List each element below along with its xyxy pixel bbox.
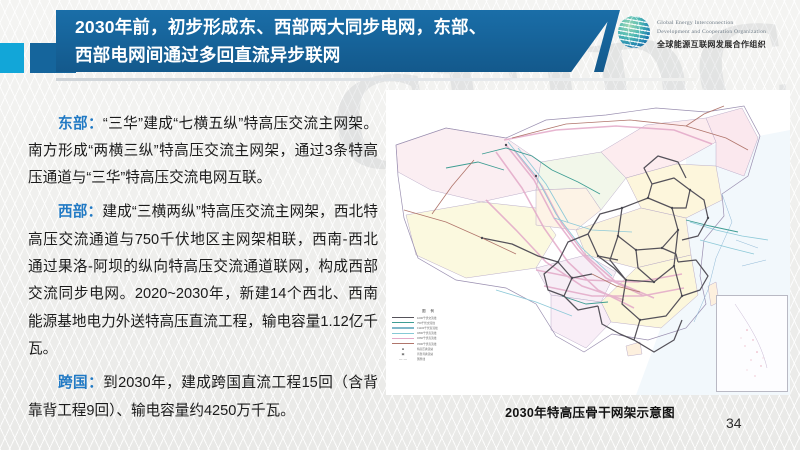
legend-swatch [392, 343, 414, 344]
header-divider [56, 78, 696, 81]
map-legend: 图 例 1000千伏交流线 750千伏交流线 ±1100千伏直流线 ±800千伏… [392, 308, 466, 374]
slide-canvas: GEIDCO 2030年前，初步形成东、西部两大同步电网，东部、 西部电网间通过… [0, 0, 800, 450]
legend-label: 1000千伏交流线 [417, 316, 436, 320]
page-number: 34 [726, 415, 742, 431]
legend-line-items: 1000千伏交流线 750千伏交流线 ±1100千伏直流线 ±800千伏直流线 … [392, 315, 466, 362]
logo-english-line-1: Global Energy Interconnection [657, 20, 733, 26]
accent-block-cyan [0, 43, 24, 73]
logo-english-line-2: Development and Cooperation Organization [657, 29, 766, 35]
legend-swatch [392, 322, 414, 323]
paragraph-tag-transnational: 跨国： [58, 375, 103, 391]
inset-map-svg [717, 296, 787, 391]
paragraph-tag-west: 西部： [58, 204, 102, 220]
logo-chinese-name: 全球能源互联网发展合作组织 [657, 39, 766, 50]
south-china-sea-inset [716, 295, 788, 392]
legend-label: ±500千伏直流线 [417, 342, 436, 346]
legend-symbol: ▣ [392, 352, 414, 356]
legend-symbol: ⊠ [392, 347, 414, 351]
legend-swatch [392, 333, 414, 334]
page-title-line-1: 2030年前，初步形成东、西部两大同步电网，东部、 [75, 13, 575, 41]
legend-label: 背靠背换流站 [417, 352, 433, 356]
paragraph-west: 西部：建成“三横两纵”特高压交流主网架，西北特高压交流通道与750千伏地区主网架… [28, 199, 378, 363]
globe-icon [618, 16, 650, 48]
grid-map-image: .prov{stroke:#b4a6c4;stroke-width:0.45;f… [386, 90, 790, 395]
legend-label: ±660千伏直流线 [417, 336, 436, 340]
page-title-line-2: 西部电网间通过多回直流异步联网 [75, 41, 575, 69]
legend-label: 国界线 [417, 357, 425, 361]
legend-label: 特高压换流站 [417, 347, 433, 351]
legend-symbol: —··— [392, 357, 414, 361]
legend-title: 图 例 [392, 308, 466, 313]
legend-swatch [392, 338, 414, 339]
slide-header: 2030年前，初步形成东、西部两大同步电网，东部、 西部电网间通过多回直流异步联… [0, 0, 800, 88]
paragraph-text-west: 建成“三横两纵”特高压交流主网架，西北特高压交流通道与750千伏地区主网架相联，… [28, 204, 378, 356]
organization-logo: Global Energy Interconnection Developmen… [618, 12, 793, 56]
legend-label: ±1100千伏直流线 [417, 326, 438, 330]
map-caption: 2030年特高压骨干网架示意图 [440, 402, 740, 421]
legend-item: —··— 国界线 [392, 357, 466, 362]
legend-label: 750千伏交流线 [417, 321, 435, 325]
page-title: 2030年前，初步形成东、西部两大同步电网，东部、 西部电网间通过多回直流异步联… [75, 13, 575, 69]
paragraph-east: 东部：“三华”建成“七横五纵”特高压交流主网架。南方形成“两横三纵”特高压交流主… [28, 111, 378, 193]
body-text-column: 东部：“三华”建成“七横五纵”特高压交流主网架。南方形成“两横三纵”特高压交流主… [28, 96, 378, 427]
legend-swatch [392, 327, 414, 328]
legend-swatch [392, 317, 414, 318]
paragraph-transnational: 跨国：到2030年，建成跨国直流工程15回（含背靠背工程9回）、输电容量约425… [28, 370, 378, 425]
paragraph-tag-east: 东部： [58, 116, 103, 132]
legend-label: ±800千伏直流线 [417, 331, 436, 335]
